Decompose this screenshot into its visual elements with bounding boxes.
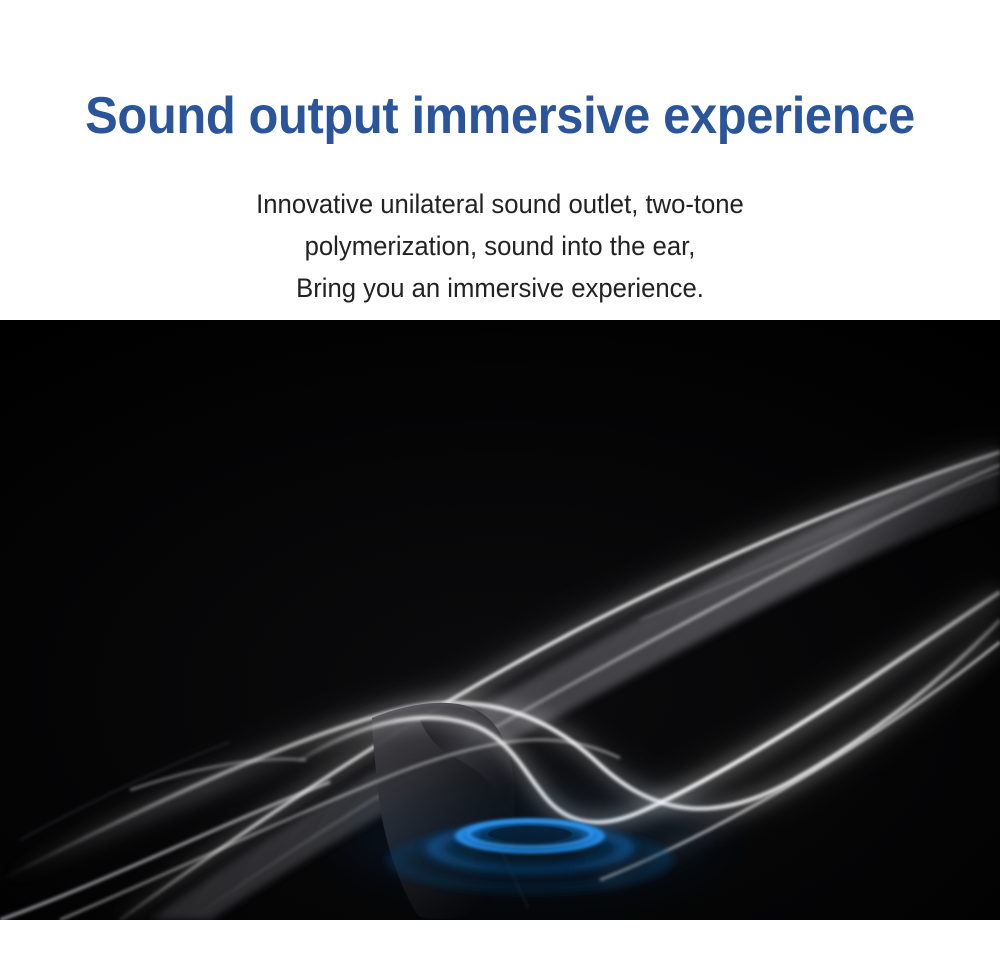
subtitle-line-1: Innovative unilateral sound outlet, two-…	[25, 183, 975, 225]
page-subtitle: Innovative unilateral sound outlet, two-…	[25, 183, 975, 309]
hero-product-image	[0, 320, 1000, 920]
sound-ring-glow	[340, 788, 720, 892]
header-text-block: Sound output immersive experience Innova…	[0, 0, 1000, 320]
subtitle-line-3: Bring you an immersive experience.	[25, 267, 975, 309]
product-feature-page: Sound output immersive experience Innova…	[0, 0, 1000, 957]
subtitle-line-2: polymerization, sound into the ear,	[25, 225, 975, 267]
bottom-white-margin	[0, 920, 1000, 957]
page-title: Sound output immersive experience	[30, 86, 970, 146]
hero-illustration	[0, 320, 1000, 920]
